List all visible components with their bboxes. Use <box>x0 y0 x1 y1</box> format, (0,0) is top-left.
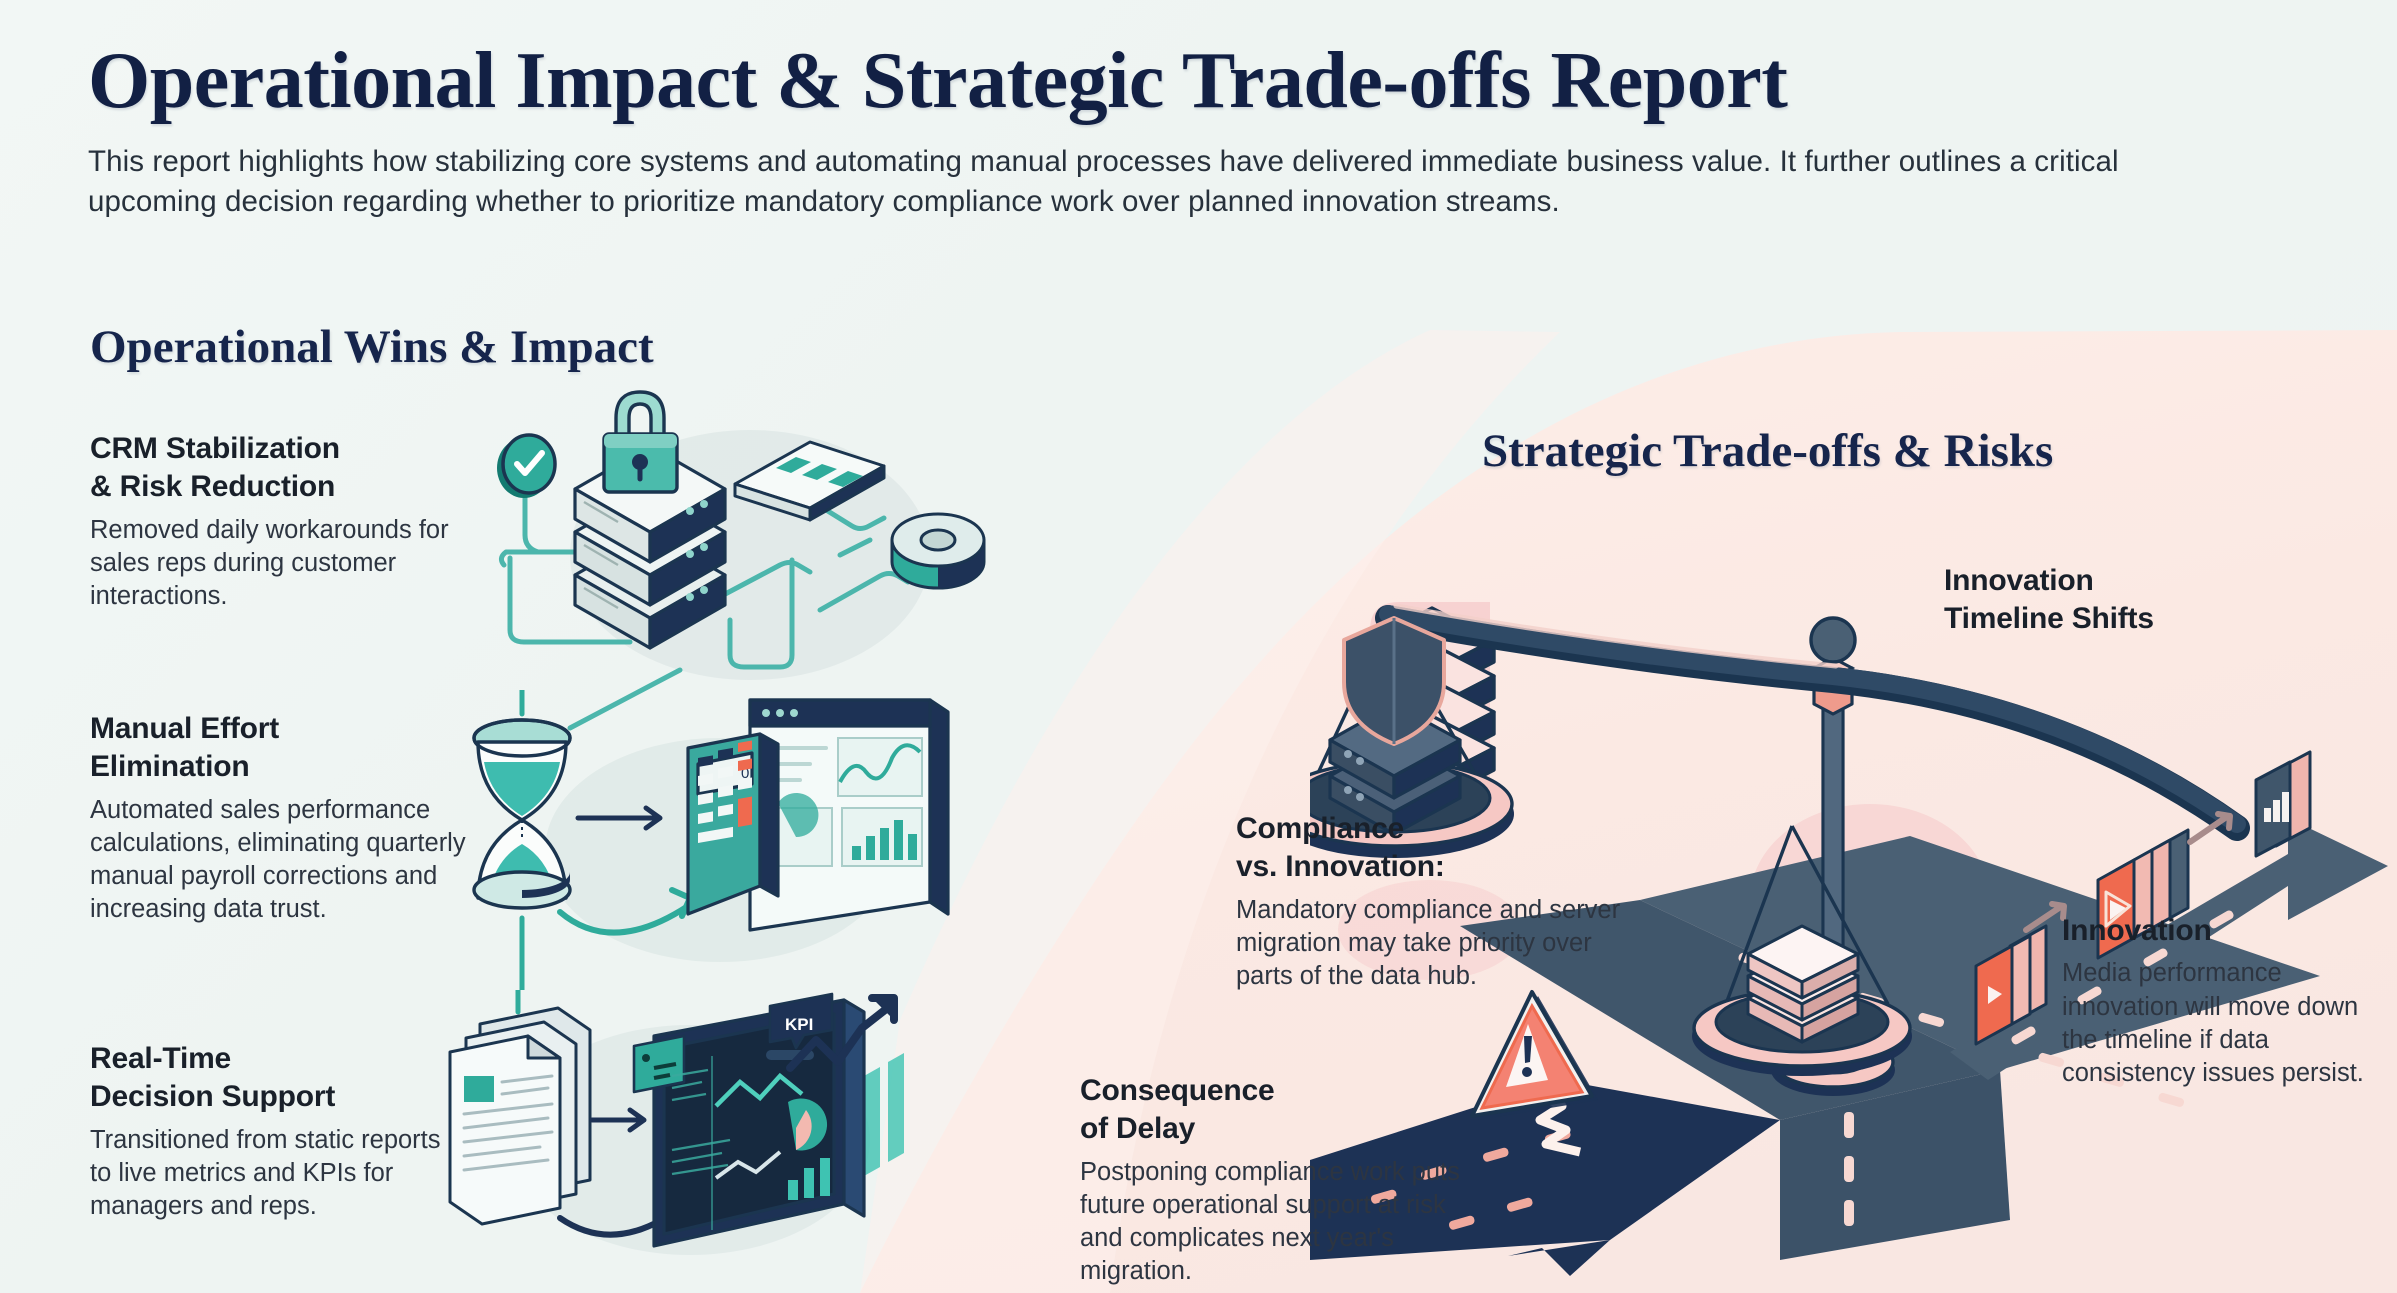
left-item-real-time-decision-support: Real-Time Decision Support Transitioned … <box>90 1040 460 1223</box>
left-item-manual-effort-elimination: Manual Effort Elimination Automated sale… <box>90 710 470 926</box>
item-title: CRM Stabilization & Risk Reduction <box>90 430 460 507</box>
item-body: Transitioned from static reports to live… <box>90 1124 460 1223</box>
item-title: Innovation Timeline Shifts <box>1944 562 2274 639</box>
left-item-crm-stabilization: CRM Stabilization & Risk Reduction Remov… <box>90 430 460 613</box>
infographic-poster: Operational Impact & Strategic Trade-off… <box>0 0 2397 1293</box>
item-body: Media performance innovation will move d… <box>2062 957 2392 1090</box>
right-section-heading: Strategic Trade-offs & Risks <box>1482 424 2053 478</box>
item-body: Automated sales performance calculations… <box>90 794 470 927</box>
item-title: Real-Time Decision Support <box>90 1040 460 1117</box>
item-title: Consequence of Delay <box>1080 1072 1460 1149</box>
item-title: Compliance vs. Innovation: <box>1236 810 1626 887</box>
kpi-badge-label: KPI <box>785 1015 813 1034</box>
left-section-heading: Operational Wins & Impact <box>90 320 654 374</box>
item-title: Manual Effort Elimination <box>90 710 470 787</box>
header: Operational Impact & Strategic Trade-off… <box>88 38 2208 221</box>
hourglass-calculator-dashboard-illustration: 0 <box>460 690 980 990</box>
documents-to-live-dashboard-illustration: KPI <box>440 990 980 1290</box>
item-body: Postponing compliance work puts future o… <box>1080 1156 1460 1289</box>
server-lock-network-illustration <box>480 380 1000 740</box>
right-item-innovation-timeline-shifts: Innovation Timeline Shifts <box>1944 562 2274 639</box>
item-body: Removed daily workarounds for sales reps… <box>90 514 460 613</box>
page-title: Operational Impact & Strategic Trade-off… <box>88 38 2208 124</box>
right-item-consequence-of-delay: Consequence of Delay Postponing complian… <box>1080 1072 1460 1288</box>
item-body: Mandatory compliance and server migratio… <box>1236 894 1626 993</box>
right-item-innovation: Innovation Media performance innovation … <box>2062 912 2392 1090</box>
page-subtitle: This report highlights how stabilizing c… <box>88 142 2158 220</box>
item-title: Innovation <box>2062 912 2392 950</box>
right-item-compliance-vs-innovation: Compliance vs. Innovation: Mandatory com… <box>1236 810 1626 993</box>
